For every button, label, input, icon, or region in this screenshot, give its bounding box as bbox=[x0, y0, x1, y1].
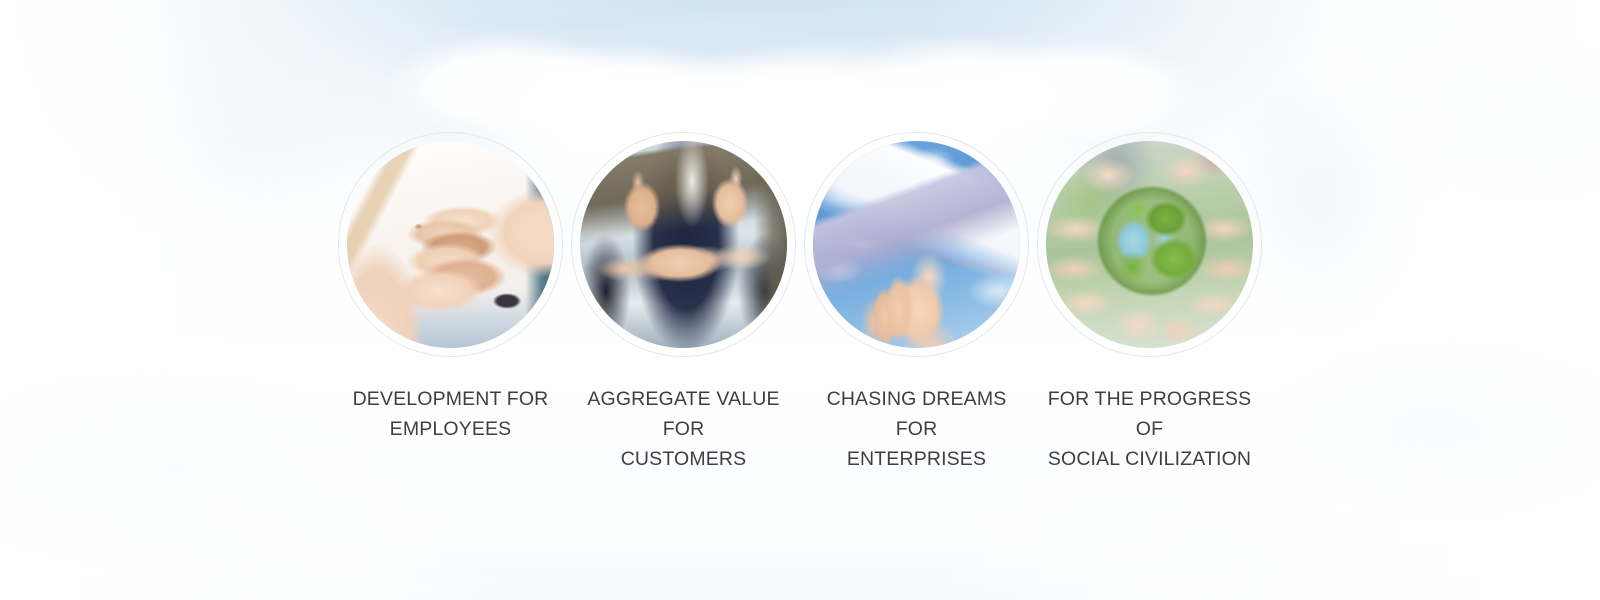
value-cards-row: DEVELOPMENT FOR EMPLOYEES AGGREGATE VALU… bbox=[0, 0, 1600, 600]
value-card-aggregate-value-for-customers[interactable]: AGGREGATE VALUE FOR CUSTOMERS bbox=[567, 0, 800, 474]
stacked-hands-teamwork-artwork bbox=[347, 141, 554, 348]
value-label-1-line1: DEVELOPMENT FOR bbox=[343, 384, 558, 414]
value-label-2: AGGREGATE VALUE FOR CUSTOMERS bbox=[576, 384, 791, 474]
hands-holding-green-globe-photo bbox=[1046, 141, 1253, 348]
value-label-2-line1: AGGREGATE VALUE FOR bbox=[576, 384, 791, 444]
values-banner: DEVELOPMENT FOR EMPLOYEES AGGREGATE VALU… bbox=[0, 0, 1600, 600]
circle-ring-3 bbox=[804, 132, 1029, 357]
value-card-development-for-employees[interactable]: DEVELOPMENT FOR EMPLOYEES bbox=[334, 0, 567, 444]
stacked-hands-teamwork-photo bbox=[347, 141, 554, 348]
value-card-chasing-dreams-for-enterprises[interactable]: CHASING DREAMS FOR ENTERPRISES bbox=[800, 0, 1033, 474]
value-label-2-line2: CUSTOMERS bbox=[576, 444, 791, 474]
value-card-for-the-progress-of-social-civilization[interactable]: FOR THE PROGRESS OF SOCIAL CIVILIZATION bbox=[1033, 0, 1266, 474]
business-handshake-artwork bbox=[580, 141, 787, 348]
circle-ring-1 bbox=[338, 132, 563, 357]
value-label-4-line1: FOR THE PROGRESS OF bbox=[1042, 384, 1257, 444]
business-handshake-thumbs-up-photo bbox=[580, 141, 787, 348]
value-label-1-line2: EMPLOYEES bbox=[343, 414, 558, 444]
value-label-4-line2: SOCIAL CIVILIZATION bbox=[1042, 444, 1257, 474]
value-label-4: FOR THE PROGRESS OF SOCIAL CIVILIZATION bbox=[1042, 384, 1257, 474]
value-label-3-line2: ENTERPRISES bbox=[809, 444, 1024, 474]
value-label-3-line1: CHASING DREAMS FOR bbox=[809, 384, 1024, 444]
value-label-3: CHASING DREAMS FOR ENTERPRISES bbox=[809, 384, 1024, 474]
value-label-1: DEVELOPMENT FOR EMPLOYEES bbox=[343, 384, 558, 444]
paper-airplane-artwork bbox=[813, 141, 1020, 348]
green-globe-artwork bbox=[1046, 141, 1253, 348]
circle-ring-2 bbox=[571, 132, 796, 357]
circle-ring-4 bbox=[1037, 132, 1262, 357]
hand-paper-airplane-sky-photo bbox=[813, 141, 1020, 348]
